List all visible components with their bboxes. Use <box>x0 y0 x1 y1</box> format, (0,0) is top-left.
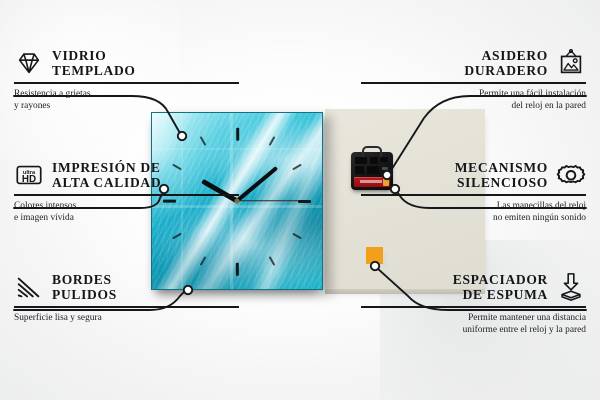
feature-title-line1: VIDRIO <box>52 48 136 63</box>
feature-title-line1: BORDES <box>52 272 117 287</box>
feature-description: Superficie lisa y segura <box>14 312 239 324</box>
icon-text-hd: HD <box>22 174 36 185</box>
feature-titles: IMPRESIÓN DE ALTA CALIDAD <box>52 160 161 190</box>
feature-description: Permite mantener una distancia uniforme … <box>361 312 586 337</box>
feature-title-line2: DURADERO <box>464 63 548 78</box>
feature-title-line1: ESPACIADOR <box>453 272 548 287</box>
feature-mecanismo-silencioso: MECANISMO SILENCIOSO Las manecillas del … <box>361 160 586 225</box>
foam-spacer-icon <box>556 272 586 302</box>
feature-header: BORDES PULIDOS <box>14 272 239 302</box>
feature-rule <box>14 82 239 84</box>
feature-rule <box>361 82 586 84</box>
feature-title-line2: SILENCIOSO <box>455 175 548 190</box>
feature-title-line1: ASIDERO <box>464 48 548 63</box>
feature-titles: MECANISMO SILENCIOSO <box>455 160 548 190</box>
feature-vidrio-templado: VIDRIO TEMPLADO Resistencia a grietas y … <box>14 48 239 113</box>
feature-titles: ESPACIADOR DE ESPUMA <box>453 272 548 302</box>
connector-node-espaciador <box>371 262 379 270</box>
feature-rule <box>361 194 586 196</box>
feature-rule <box>361 306 586 308</box>
feature-header: ASIDERO DURADERO <box>361 48 586 78</box>
feature-rule <box>14 194 239 196</box>
feature-bordes-pulidos: BORDES PULIDOS Superficie lisa y segura <box>14 272 239 324</box>
feature-title-line2: DE ESPUMA <box>453 287 548 302</box>
feature-espaciador-de-espuma: ESPACIADOR DE ESPUMA Permite mantener un… <box>361 272 586 337</box>
hanging-picture-icon <box>556 48 586 78</box>
feature-header: ESPACIADOR DE ESPUMA <box>361 272 586 302</box>
feature-titles: ASIDERO DURADERO <box>464 48 548 78</box>
feature-title-line2: TEMPLADO <box>52 63 136 78</box>
feature-title-line1: IMPRESIÓN DE <box>52 160 161 175</box>
feature-description: Permite una fácil instalación del reloj … <box>361 88 586 113</box>
feature-titles: BORDES PULIDOS <box>52 272 117 302</box>
feature-title-line2: ALTA CALIDAD <box>52 175 161 190</box>
feature-description: Las manecillas del reloj no emiten ningú… <box>361 200 586 225</box>
feature-rule <box>14 306 239 308</box>
feature-title-line1: MECANISMO <box>455 160 548 175</box>
connector-node-vidrio <box>178 132 186 140</box>
feature-header: ultra HD IMPRESIÓN DE ALTA CALIDAD <box>14 160 239 190</box>
feature-description: Resistencia a grietas y rayones <box>14 88 239 113</box>
ultra-hd-icon: ultra HD <box>14 160 44 190</box>
feature-header: VIDRIO TEMPLADO <box>14 48 239 78</box>
gear-icon <box>556 160 586 190</box>
polished-edges-icon <box>14 272 44 302</box>
feature-header: MECANISMO SILENCIOSO <box>361 160 586 190</box>
feature-title-line2: PULIDOS <box>52 287 117 302</box>
feature-description: Colores intensos e imagen vívida <box>14 200 239 225</box>
infographic-canvas: VIDRIO TEMPLADO Resistencia a grietas y … <box>0 0 600 400</box>
feature-titles: VIDRIO TEMPLADO <box>52 48 136 78</box>
feature-asidero-duradero: ASIDERO DURADERO Permite una fácil insta… <box>361 48 586 113</box>
feature-impresion-alta-calidad: ultra HD IMPRESIÓN DE ALTA CALIDAD Color… <box>14 160 239 225</box>
diamond-icon <box>14 48 44 78</box>
